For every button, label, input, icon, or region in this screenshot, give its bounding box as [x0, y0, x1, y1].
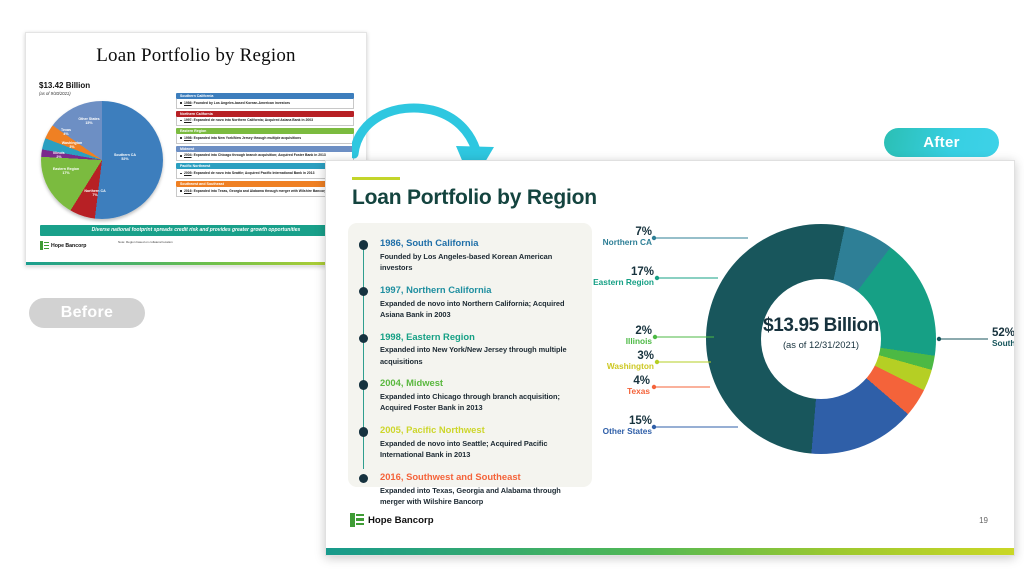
before-section: Northern California 1997: Expanded de no…: [176, 111, 354, 127]
timeline-bullet-icon: [359, 240, 369, 250]
before-section-year: 2004: [184, 153, 192, 157]
timeline-item-body: Expanded into New York/New Jersey throug…: [380, 344, 582, 367]
before-section-year: 2016: [184, 189, 192, 193]
callout-illinois: 2% Illinois: [576, 325, 652, 347]
before-pie-label-eastern-region: Eastern Region17%: [51, 167, 81, 176]
callout-eastern-region: 17% Eastern Region: [550, 266, 654, 288]
timeline-card: 1986, South California Founded by Los An…: [348, 223, 592, 487]
callout-label: Texas: [574, 387, 650, 397]
callout-southern-ca: 52% Southern CA: [992, 327, 1015, 349]
callout-label: Eastern Region: [550, 278, 654, 288]
before-pie-label-northern-ca: Northern CA7%: [79, 189, 111, 198]
page-number: 19: [979, 516, 988, 525]
before-section-text: Expanded into Texas, Georgia and Alabama…: [194, 189, 327, 193]
before-section-body: 1986: Founded by Los Angeles-based Korea…: [176, 99, 354, 109]
before-pie-label-texas: Texas4%: [55, 128, 77, 137]
timeline-bullet-icon: [359, 380, 369, 390]
callout-texas: 4% Texas: [574, 375, 650, 397]
before-section-year: 1997: [184, 118, 192, 122]
before-pie-label-other-states: Other States15%: [71, 117, 107, 126]
callout-other-states: 15% Other States: [554, 415, 652, 437]
callout-label: Northern CA: [556, 238, 652, 248]
callout-washington: 3% Washington: [560, 350, 654, 372]
before-logo-text: Hope Bancorp: [51, 243, 86, 249]
hope-bancorp-logo-icon: [40, 241, 49, 250]
after-slide-title: Loan Portfolio by Region: [352, 186, 597, 210]
before-section: Southern California 1986: Founded by Los…: [176, 93, 354, 109]
before-section-year: 1998: [184, 136, 192, 140]
before-section: Eastern Region 1998: Expanded into New Y…: [176, 128, 354, 144]
timeline-item: 1997, Northern California Expanded de no…: [348, 284, 582, 320]
before-pie-label-washington: Washington3%: [57, 141, 87, 150]
timeline-item-heading: 1986, South California: [380, 237, 582, 248]
timeline-bullet-icon: [359, 334, 369, 344]
after-logo-text: Hope Bancorp: [368, 515, 434, 526]
timeline-item: 1998, Eastern Region Expanded into New Y…: [348, 331, 582, 367]
callout-label: Southern CA: [992, 339, 1015, 349]
before-section-year: 1986: [184, 101, 192, 105]
timeline-bullet-icon: [359, 287, 369, 297]
after-bottom-gradient-bar: [326, 548, 1014, 555]
callout-label: Washington: [560, 362, 654, 372]
before-slide: Loan Portfolio by Region $13.42 Billion …: [25, 32, 367, 266]
timeline-item: 2016, Southwest and Southeast Expanded i…: [348, 471, 582, 507]
before-section-body: 1998: Expanded into New York/New Jersey …: [176, 134, 354, 144]
before-section-text: Founded by Los Angeles-based Korean-Amer…: [194, 101, 290, 105]
before-section-text: Expanded de novo into Seattle; Acquired …: [194, 171, 315, 175]
before-badge: Before: [29, 298, 145, 328]
before-as-of-date: (as of 9/30/2021): [39, 91, 71, 96]
timeline-item-heading: 1998, Eastern Region: [380, 331, 582, 342]
timeline-bullet-icon: [359, 474, 369, 484]
before-section-text: Expanded de novo into Northern Californi…: [194, 118, 313, 122]
timeline-item-heading: 2004, Midwest: [380, 377, 582, 388]
timeline-item-body: Expanded de novo into Northern Californi…: [380, 298, 582, 321]
timeline-item: 1986, South California Founded by Los An…: [348, 237, 582, 273]
before-section-text: Expanded into New York/New Jersey throug…: [194, 136, 301, 140]
after-slide: Loan Portfolio by Region 1986, South Cal…: [325, 160, 1015, 556]
before-bottom-gradient-bar: [26, 262, 366, 265]
callout-leader-lines: [598, 219, 998, 489]
callout-label: Other States: [554, 427, 652, 437]
timeline-item-body: Expanded into Texas, Georgia and Alabama…: [380, 485, 582, 508]
timeline-item-body: Expanded into Chicago through branch acq…: [380, 391, 582, 414]
hope-bancorp-logo-icon: [350, 513, 364, 527]
timeline-item-heading: 2005, Pacific Northwest: [380, 424, 582, 435]
timeline-item-body: Expanded de novo into Seattle; Acquired …: [380, 438, 582, 461]
before-pie-label-southern-ca: Southern CA52%: [105, 153, 145, 162]
before-pie-label-illinois: Illinois2%: [47, 151, 71, 160]
timeline-item-heading: 2016, Southwest and Southeast: [380, 471, 582, 482]
before-total-amount: $13.42 Billion: [39, 81, 90, 90]
before-section-year: 2005: [184, 171, 192, 175]
after-badge: After: [884, 128, 999, 157]
title-accent-bar: [352, 177, 400, 180]
before-slide-title: Loan Portfolio by Region: [26, 45, 366, 67]
before-footnote: Note: Region based on collateral locatio…: [118, 240, 173, 244]
timeline-bullet-icon: [359, 427, 369, 437]
callout-northern-ca: 7% Northern CA: [556, 226, 652, 248]
after-logo: Hope Bancorp: [350, 513, 434, 527]
timeline-item: 2004, Midwest Expanded into Chicago thro…: [348, 377, 582, 413]
before-tagline: Diverse national footprint spreads credi…: [40, 225, 352, 236]
before-section-body: 1997: Expanded de novo into Northern Cal…: [176, 117, 354, 127]
before-section-text: Expanded into Chicago through branch acq…: [194, 153, 326, 157]
before-logo: Hope Bancorp: [40, 241, 86, 250]
timeline-item: 2005, Pacific Northwest Expanded de novo…: [348, 424, 582, 460]
donut-chart: $13.95 Billion (as of 12/31/2021) 7% Nor…: [598, 219, 998, 489]
before-pie-chart: Southern CA52% Northern CA7% Eastern Reg…: [41, 101, 163, 219]
callout-label: Illinois: [576, 337, 652, 347]
